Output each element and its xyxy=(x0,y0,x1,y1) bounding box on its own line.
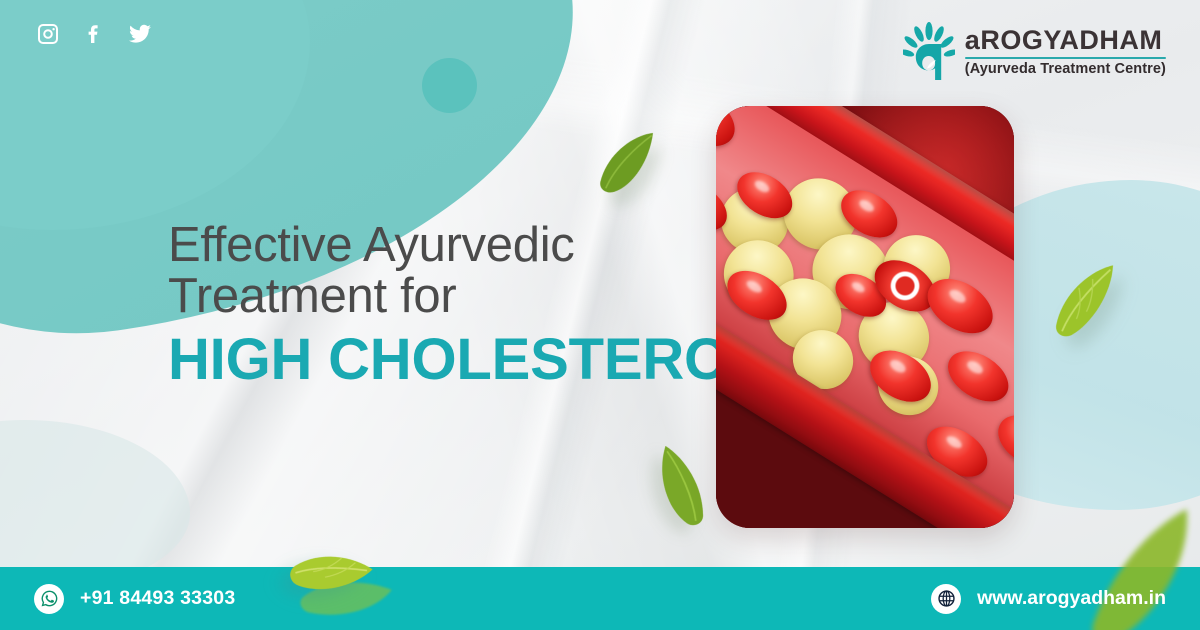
logo-wordmark-lead: a xyxy=(965,25,981,55)
twitter-icon[interactable] xyxy=(128,22,152,46)
logo-tagline: (Ayurveda Treatment Centre) xyxy=(965,62,1166,78)
social-links xyxy=(36,22,152,46)
poster-canvas: arogyadham (Ayurveda Treatment Centre) E… xyxy=(0,0,1200,630)
brand-logo[interactable]: arogyadham (Ayurveda Treatment Centre) xyxy=(903,22,1166,82)
leaf-tree-a-icon xyxy=(903,22,955,82)
facebook-icon[interactable] xyxy=(82,22,106,46)
headline-block: Effective Ayurvedic Treatment for HIGH C… xyxy=(168,222,688,389)
headline-line-1: Effective Ayurvedic xyxy=(168,222,688,269)
globe-icon xyxy=(931,584,961,614)
footer-website[interactable]: www.arogyadham.in xyxy=(931,584,1166,614)
logo-wordmark-rest: rogyadham xyxy=(980,25,1162,55)
whatsapp-icon xyxy=(34,584,64,614)
logo-wordmark: arogyadham xyxy=(965,27,1166,54)
decorative-dot-circle xyxy=(422,58,477,113)
instagram-icon[interactable] xyxy=(36,22,60,46)
footer-bar: +91 84493 33303 www.arogyadham.in xyxy=(0,567,1200,630)
headline-line-3-highlight: HIGH CHOLESTEROL xyxy=(168,331,688,389)
footer-phone[interactable]: +91 84493 33303 xyxy=(34,584,235,614)
footer-website-url: www.arogyadham.in xyxy=(977,587,1166,610)
artery-plaque-image xyxy=(716,106,1014,528)
logo-divider xyxy=(965,57,1166,59)
headline-line-2: Treatment for xyxy=(168,273,688,320)
footer-phone-number: +91 84493 33303 xyxy=(80,587,235,610)
